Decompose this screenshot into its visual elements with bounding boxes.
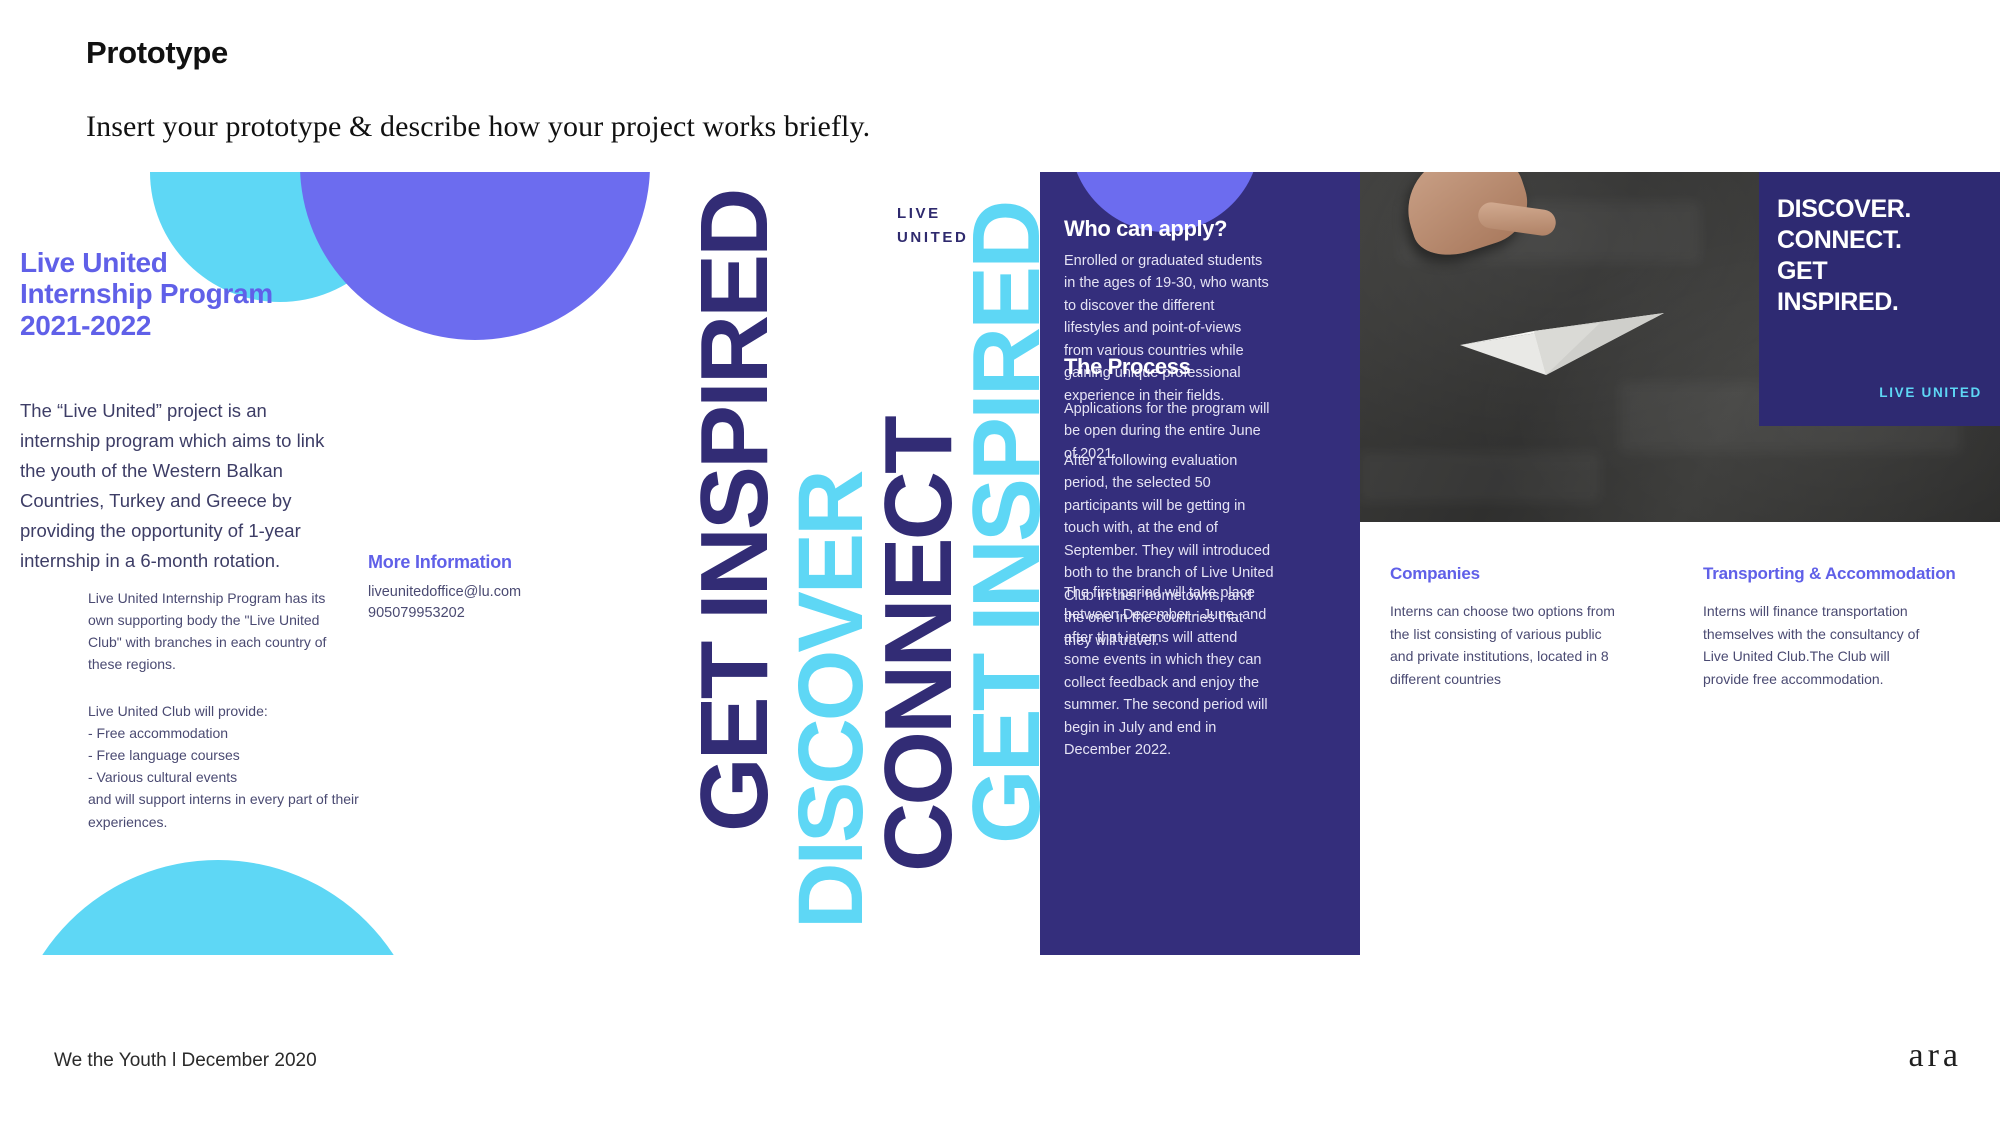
vertical-word-get-inspired-navy: GET INSPIRED xyxy=(689,191,781,832)
more-information-email: liveunitedoffice@lu.com xyxy=(368,584,521,600)
page-title: Prototype xyxy=(86,35,228,71)
live-united-logo-card: LIVE UNITED xyxy=(1879,385,1982,400)
footer-note: We the Youth l December 2020 xyxy=(54,1050,317,1072)
transporting-accommodation-heading: Transporting & Accommodation xyxy=(1703,564,1956,584)
more-information-heading: More Information xyxy=(368,552,512,573)
the-process-paragraph-3: The first period will take place between… xyxy=(1064,582,1274,762)
who-can-apply-body: Enrolled or graduated students in the ag… xyxy=(1064,250,1274,407)
brochure-intro-paragraph: The “Live United” project is an internsh… xyxy=(20,396,345,576)
vertical-word-get-inspired-cyan: GET INSPIRED xyxy=(961,203,1043,844)
decorative-circle-cyan-bottom xyxy=(8,860,428,955)
brochure-benefits-paragraph: Live United Club will provide: - Free ac… xyxy=(88,700,360,833)
brochure-heading: Live United Internship Program 2021-2022 xyxy=(20,247,360,341)
quote-card: DISCOVER. CONNECT. GET INSPIRED. LIVE UN… xyxy=(1759,172,2000,426)
who-can-apply-heading: Who can apply? xyxy=(1064,216,1227,242)
vertical-word-discover: DISCOVER xyxy=(787,472,875,929)
companies-body: Interns can choose two options from the … xyxy=(1390,600,1620,691)
paper-plane-icon xyxy=(1450,227,1680,377)
ara-logo: ara xyxy=(1908,1037,1962,1075)
chalk-streak xyxy=(1360,452,1600,502)
vertical-word-connect: CONNECT xyxy=(873,418,965,872)
brochure-panel-left: Live United Internship Program 2021-2022… xyxy=(0,172,683,955)
prototype-image: Live United Internship Program 2021-2022… xyxy=(0,172,2000,955)
brochure-panel-navy: Who can apply? Enrolled or graduated stu… xyxy=(1040,172,1360,955)
page-subtitle: Insert your prototype & describe how you… xyxy=(86,110,870,144)
brochure-panel-typography: LIVE UNITED GET INSPIRED DISCOVER CONNEC… xyxy=(683,172,1043,955)
companies-heading: Companies xyxy=(1390,564,1480,584)
quote-text: DISCOVER. CONNECT. GET INSPIRED. xyxy=(1777,194,1987,318)
brochure-club-paragraph: Live United Internship Program has its o… xyxy=(88,587,350,675)
more-information-phone: 905079953202 xyxy=(368,605,465,621)
the-process-heading: The Process xyxy=(1064,354,1190,380)
transporting-accommodation-body: Interns will finance transportation them… xyxy=(1703,600,1933,691)
